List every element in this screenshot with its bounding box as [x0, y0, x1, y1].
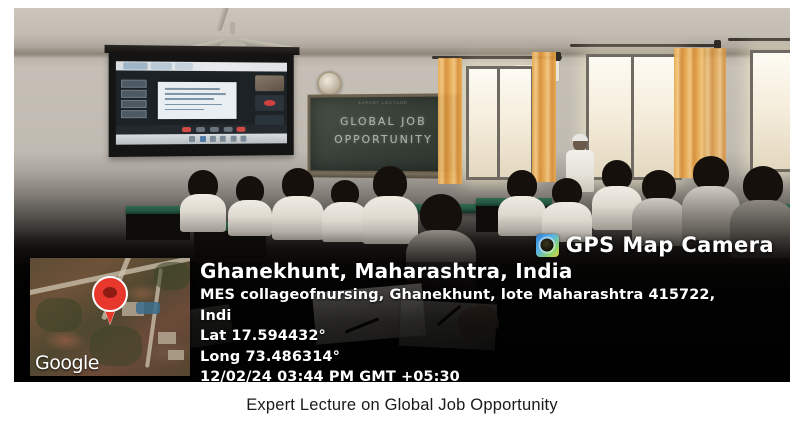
blackboard-header-note: EXPERT LECTURE: [310, 99, 457, 105]
map-water: [136, 302, 160, 314]
fan-rod: [230, 22, 235, 34]
map-building: [168, 350, 184, 360]
os-taskbar: [116, 133, 287, 144]
gps-latitude: Lat 17.594432°: [200, 326, 760, 347]
student: [272, 168, 324, 240]
gps-map-camera-icon: [536, 234, 559, 257]
blackboard-line-2: OPPORTUNITY: [310, 133, 457, 146]
window: [466, 66, 534, 180]
map-pin-icon: [92, 276, 128, 324]
map-building: [158, 332, 176, 344]
window: [750, 50, 790, 172]
lecturer-cap: [572, 134, 588, 141]
wall-clock-icon: [317, 71, 342, 96]
blackboard-line-1: GLOBAL JOB: [310, 115, 457, 128]
student-head: [693, 156, 729, 190]
photo-caption: Expert Lecture on Global Job Opportunity: [0, 396, 804, 415]
student-body: [180, 194, 226, 232]
gps-address: MES collageofnursing, Ghanekhunt, lote M…: [200, 285, 748, 326]
curtain-rod: [728, 38, 790, 41]
map-vegetation: [154, 262, 190, 290]
gps-place-name: Ghanekhunt, Maharashtra, India: [200, 260, 760, 283]
gps-map-camera-watermark: GPS Map Camera: [536, 233, 774, 257]
student-body: [228, 200, 272, 236]
google-watermark: Google: [35, 352, 99, 374]
curtain: [438, 58, 462, 184]
projector-screen: [109, 51, 294, 157]
map-vegetation: [36, 298, 82, 332]
student-head: [373, 166, 407, 200]
projector-screen-bar: [105, 45, 300, 55]
gps-longitude: Long 73.486314°: [200, 347, 760, 368]
student: [180, 170, 226, 232]
curtain-rod: [570, 44, 720, 47]
screenshot-root: EXPERT LECTURE GLOBAL JOB OPPORTUNITY: [0, 0, 804, 440]
gps-timestamp: 12/02/24 03:44 PM GMT +05:30: [200, 367, 760, 382]
student-body: [272, 196, 324, 240]
curtain: [532, 52, 556, 182]
student: [228, 176, 272, 236]
map-pin-hole: [103, 287, 117, 298]
projected-video-call: [116, 61, 287, 145]
student-head: [420, 194, 462, 234]
student: [498, 170, 546, 236]
shared-slide: [158, 82, 237, 119]
classroom-photo: EXPERT LECTURE GLOBAL JOB OPPORTUNITY: [14, 8, 790, 382]
map-thumbnail[interactable]: Google: [30, 258, 190, 376]
student-head: [743, 166, 783, 204]
gps-map-camera-label: GPS Map Camera: [566, 233, 774, 257]
student-body: [498, 196, 546, 236]
gps-info-overlay: Ghanekhunt, Maharashtra, India MES colla…: [200, 260, 760, 382]
